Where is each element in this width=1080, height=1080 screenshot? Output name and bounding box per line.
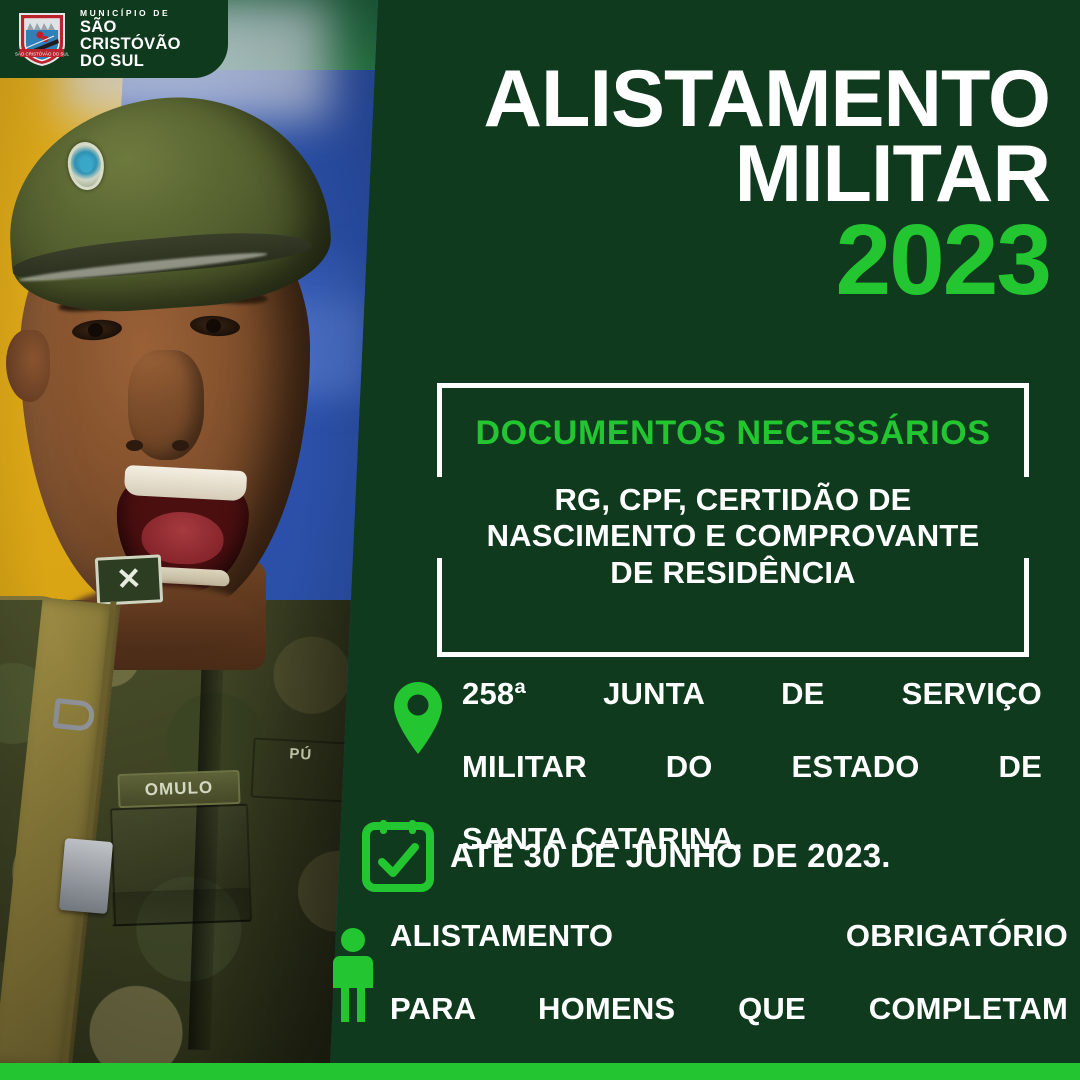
title-line-1: ALISTAMENTO	[400, 62, 1050, 137]
logo-line-2: CRISTÓVÃO	[80, 36, 181, 53]
soldier-photo: OMULO PÚ	[0, 0, 400, 1063]
info-text-obligation: ALISTAMENTO OBRIGATÓRIO PARA HOMENS QUE …	[390, 918, 1068, 1080]
upper-teeth	[124, 465, 247, 501]
poster-title: ALISTAMENTO MILITAR 2023	[400, 62, 1050, 308]
soldier-figure: OMULO PÚ	[0, 0, 400, 1063]
frame-border-right-lower	[1024, 558, 1029, 657]
bottom-accent-bar	[0, 1063, 1080, 1080]
name-tape: OMULO	[117, 770, 240, 808]
nostril-right	[172, 440, 189, 451]
logo-line-1: SÃO	[80, 19, 181, 36]
strap-buckle-icon	[59, 838, 113, 914]
frame-border-left-lower	[437, 558, 442, 657]
uniform-pocket-flap	[111, 888, 250, 927]
person-icon	[330, 918, 376, 1031]
obligation-line-2: PARA HOMENS QUE COMPLETAM	[390, 991, 1068, 1064]
rank-patch-icon	[95, 554, 163, 605]
documents-body: RG, CPF, CERTIDÃO DE NASCIMENTO E COMPRO…	[470, 482, 996, 591]
title-year: 2023	[400, 213, 1050, 308]
location-line-1: 258ª JUNTA DE SERVIÇO	[462, 676, 1042, 749]
logo-text-block: MUNICÍPIO DE SÃO CRISTÓVÃO DO SUL	[80, 7, 181, 70]
location-line-2: MILITAR DO ESTADO DE	[462, 749, 1042, 822]
uniform-pocket-right: PÚ	[250, 738, 349, 803]
calendar-check-icon	[360, 816, 436, 897]
ear	[6, 330, 50, 402]
municipality-logo-badge: SÃO CRISTÓVÃO DO SUL MUNICÍPIO DE SÃO CR…	[0, 0, 228, 78]
frame-border-bottom	[437, 652, 1029, 657]
content-column: ALISTAMENTO MILITAR 2023 DOCUMENTOS NECE…	[390, 0, 1080, 1063]
nostril-left	[126, 440, 143, 451]
logo-subtitle: MUNICÍPIO DE	[80, 9, 181, 18]
info-row-deadline: ATÉ 30 DE JUNHO DE 2023.	[360, 816, 1060, 897]
info-row-obligation: ALISTAMENTO OBRIGATÓRIO PARA HOMENS QUE …	[330, 918, 1070, 1080]
documents-heading: DOCUMENTOS NECESSÁRIOS	[426, 414, 1040, 453]
logo-line-3: DO SUL	[80, 53, 181, 70]
obligation-line-1: ALISTAMENTO OBRIGATÓRIO	[390, 918, 1068, 991]
frame-border-top	[437, 383, 1029, 388]
d-ring-icon	[53, 698, 96, 732]
military-beret	[1, 87, 335, 319]
location-pin-icon	[390, 676, 446, 761]
documents-box: DOCUMENTOS NECESSÁRIOS RG, CPF, CERTIDÃO…	[426, 374, 1040, 658]
svg-text:SÃO CRISTÓVÃO DO SUL: SÃO CRISTÓVÃO DO SUL	[15, 52, 69, 57]
title-line-2: MILITAR	[400, 137, 1050, 212]
coat-of-arms-icon: SÃO CRISTÓVÃO DO SUL	[14, 8, 70, 68]
poster-canvas: OMULO PÚ SÃO CRISTÓVÃO DO SUL	[0, 0, 1080, 1080]
info-text-deadline: ATÉ 30 DE JUNHO DE 2023.	[450, 838, 891, 874]
